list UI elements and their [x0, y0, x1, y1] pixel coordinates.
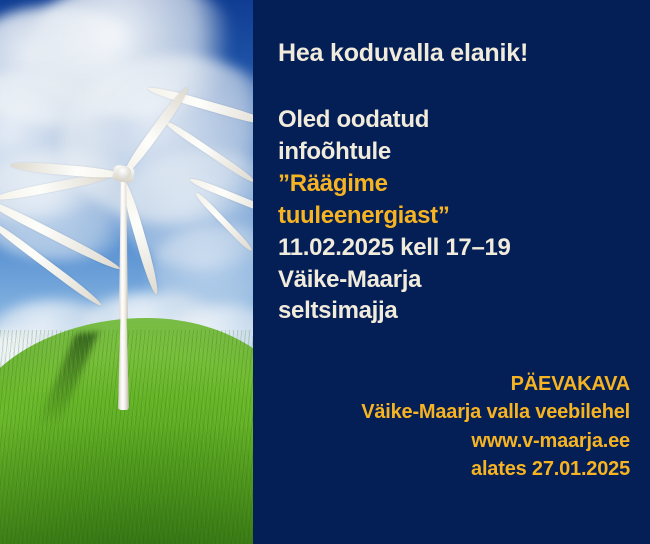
event-title-line-2: tuuleenergiast”: [278, 200, 643, 232]
venue-line-1: Väike-Maarja: [278, 264, 643, 296]
agenda-available-from: alates 27.01.2025: [270, 455, 630, 483]
agenda-website-link[interactable]: www.v-maarja.ee: [270, 427, 630, 455]
turbine-hub: [118, 166, 131, 179]
venue-line-2: seltsimajja: [278, 295, 643, 327]
body-line-2: infoõhtule: [278, 136, 643, 168]
agenda-source: Väike-Maarja valla veebilehel: [270, 398, 630, 426]
text-panel: Hea koduvalla elanik! Oled oodatud infoõ…: [253, 0, 650, 544]
agenda-block: PÄEVAKAVA Väike-Maarja valla veebilehel …: [270, 370, 630, 484]
poster-root: Hea koduvalla elanik! Oled oodatud infoõ…: [0, 0, 650, 544]
event-datetime: 11.02.2025 kell 17–19: [278, 232, 643, 264]
body-text-block: Oled oodatud infoõhtule ”Räägime tuuleen…: [278, 104, 643, 327]
event-title-line-1: ”Räägime: [278, 168, 643, 200]
body-line-1: Oled oodatud: [278, 104, 643, 136]
agenda-title: PÄEVAKAVA: [270, 370, 630, 398]
headline: Hea koduvalla elanik!: [278, 40, 638, 68]
foreground-grass: [0, 424, 253, 544]
wind-turbine-photo: [0, 0, 253, 544]
